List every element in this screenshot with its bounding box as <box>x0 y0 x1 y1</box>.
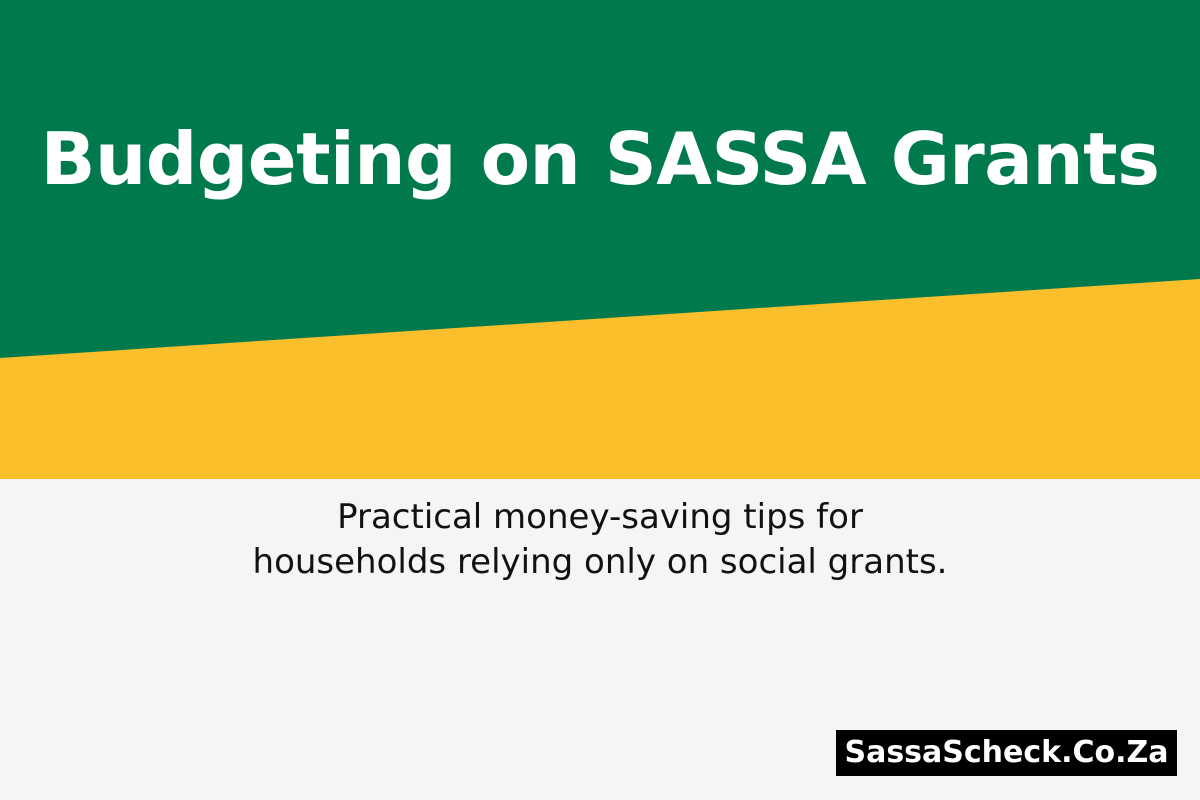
page-title: Budgeting on SASSA Grants <box>0 123 1200 195</box>
site-watermark-label: SassaScheck.Co.Za <box>844 738 1168 768</box>
page-subtitle: Practical money-saving tips for househol… <box>250 495 950 585</box>
poster-canvas: Budgeting on SASSA Grants Practical mone… <box>0 0 1200 800</box>
header-banner <box>0 0 1200 479</box>
site-watermark-badge: SassaScheck.Co.Za <box>836 730 1177 776</box>
